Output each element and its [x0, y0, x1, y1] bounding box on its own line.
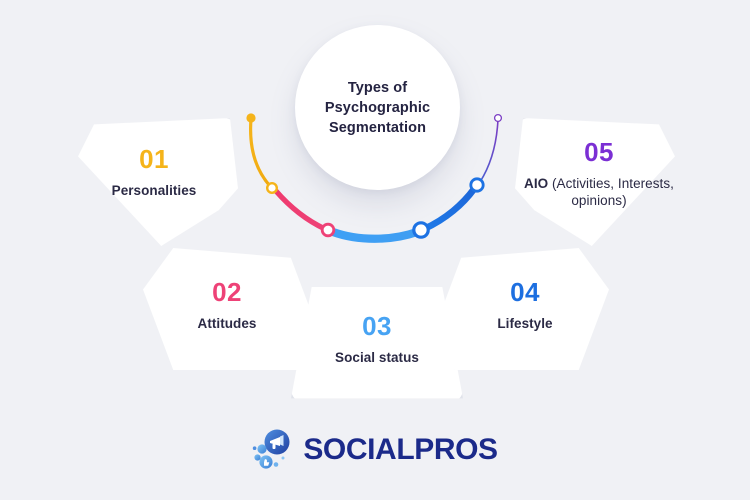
card-number: 02: [212, 279, 242, 305]
segment-card-attitudes[interactable]: 02 Attitudes: [143, 248, 311, 370]
card-content: 04 Lifestyle: [441, 248, 609, 370]
card-label: Lifestyle: [497, 315, 552, 332]
card-label: Attitudes: [198, 315, 257, 332]
segment-card-lifestyle[interactable]: 04 Lifestyle: [441, 248, 609, 370]
arc-endpoint-end-ring: [495, 115, 502, 122]
logo-wordmark: SOCIALPROS: [303, 435, 497, 465]
arc-segment-1: [251, 119, 270, 186]
card-label: AIO (Activities, Interests, opinions): [524, 175, 674, 210]
card-number: 03: [362, 313, 392, 339]
brand-logo: SOCIALPROS: [0, 424, 750, 476]
card-number: 05: [584, 139, 614, 165]
card-content: 01 Personalities: [78, 118, 238, 246]
center-title: Types of Psychographic Segmentation: [313, 78, 442, 138]
center-circle: Types of Psychographic Segmentation: [295, 25, 460, 190]
card-label-soft: (Activities, Interests, opinions): [552, 176, 674, 208]
card-content: 02 Attitudes: [143, 248, 311, 370]
card-number: 01: [139, 146, 169, 172]
arc-segment-5: [480, 119, 498, 182]
segment-card-social-status[interactable]: 03 Social status: [291, 287, 463, 403]
arc-node-2: [322, 224, 334, 236]
center-title-line-1: Types of: [325, 78, 430, 98]
arc-node-1: [267, 183, 277, 193]
segment-card-personalities[interactable]: 01 Personalities: [78, 118, 238, 246]
card-number: 04: [510, 279, 540, 305]
card-content: 03 Social status: [291, 287, 463, 403]
center-title-line-3: Segmentation: [325, 118, 430, 138]
arc-endpoint-start-dot: [246, 113, 255, 122]
card-label-bold: AIO: [524, 176, 552, 191]
card-label: Personalities: [112, 182, 197, 199]
arc-segment-2: [276, 191, 325, 229]
card-label: Social status: [335, 349, 419, 366]
infographic-canvas: Types of Psychographic Segmentation 01 P…: [0, 0, 750, 500]
center-title-line-2: Psychographic: [325, 98, 430, 118]
arc-segment-3: [333, 232, 417, 239]
arc-segment-4: [424, 189, 474, 229]
arc-node-3: [414, 223, 428, 237]
segment-card-aio[interactable]: 05 AIO (Activities, Interests, opinions): [515, 118, 675, 246]
card-content: 05 AIO (Activities, Interests, opinions): [515, 118, 675, 246]
arc-node-4: [471, 179, 483, 191]
socialpros-badge-icon: [252, 428, 294, 472]
